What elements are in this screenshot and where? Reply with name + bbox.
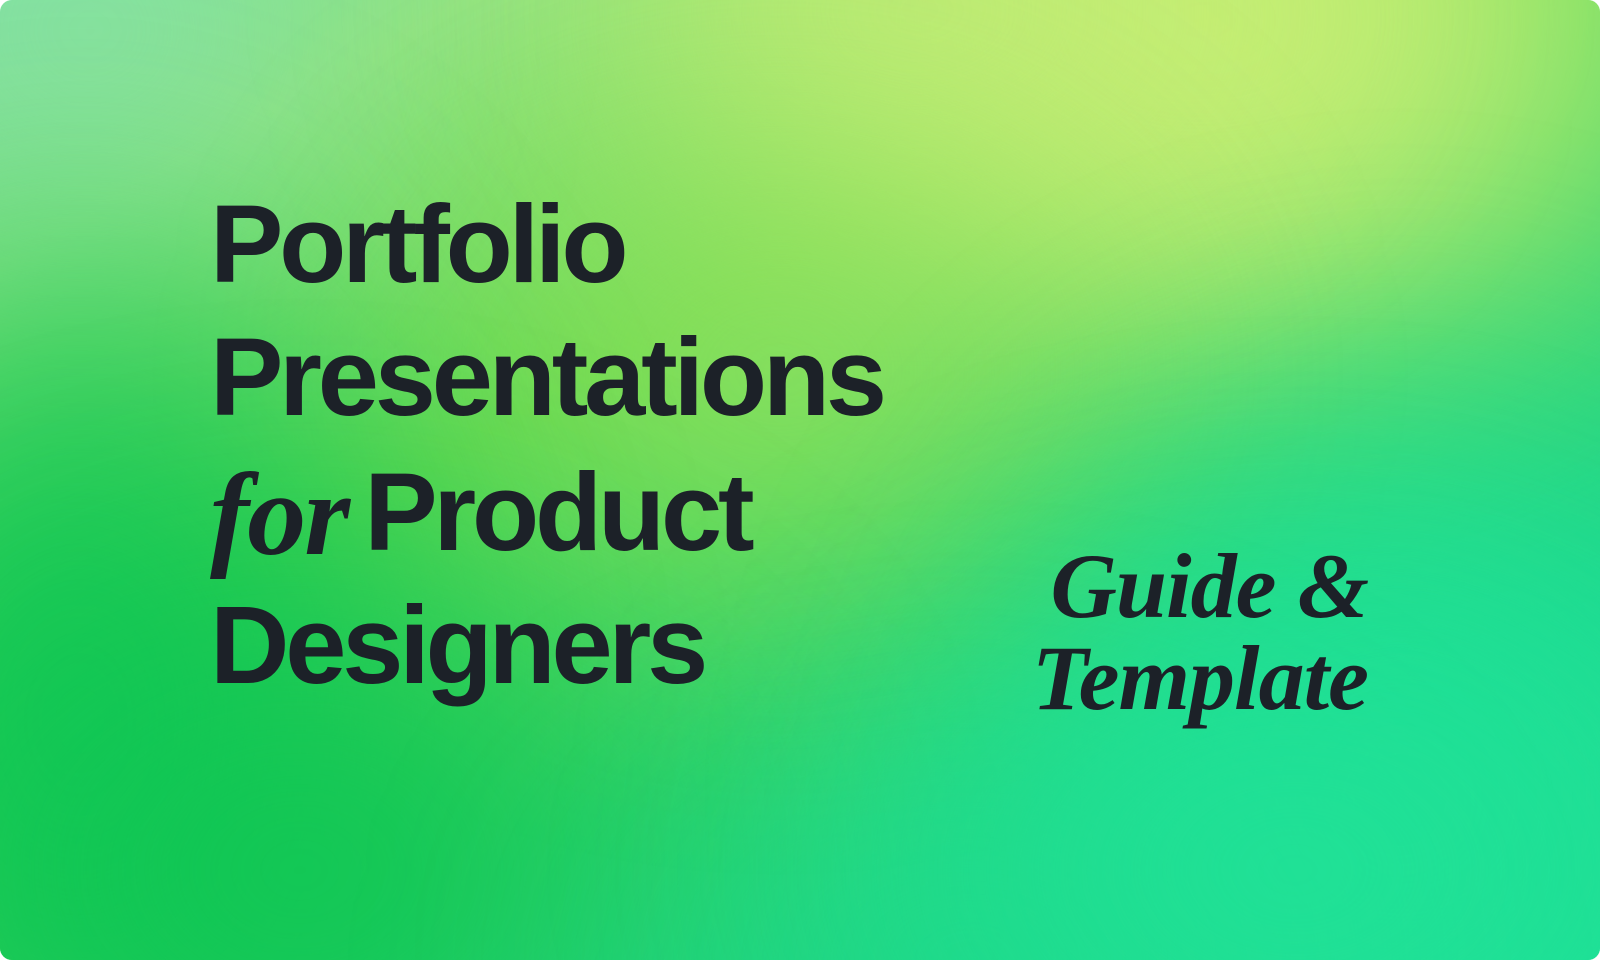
title-slide-poster: Portfolio Presentations forProduct Desig… (0, 0, 1600, 960)
kicker-line-1: Guide & (948, 540, 1368, 632)
headline-line-4: Designers (210, 579, 883, 712)
headline-line-3: forProduct (210, 444, 883, 579)
poster-content: Portfolio Presentations forProduct Desig… (0, 0, 1600, 960)
headline-line-3-sans-word: Product (364, 451, 750, 574)
headline-line-1: Portfolio (210, 178, 883, 311)
kicker-line-2: Template (948, 632, 1368, 724)
kicker-label: Guide & Template (948, 540, 1368, 724)
headline-line-3-serif-prefix: for (210, 449, 364, 580)
headline: Portfolio Presentations forProduct Desig… (210, 178, 883, 712)
headline-line-2: Presentations (210, 311, 883, 444)
